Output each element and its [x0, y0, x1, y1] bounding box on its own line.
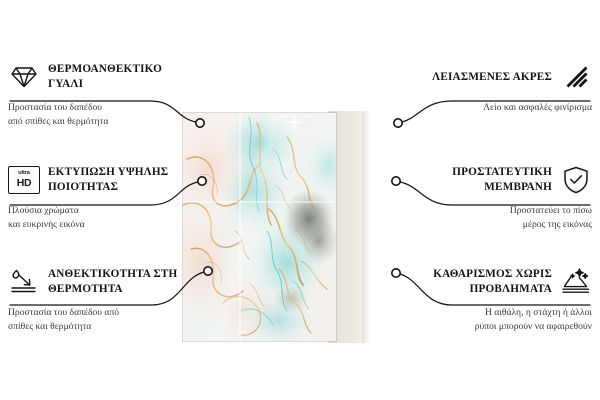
feature-header: ΚΑΘΑΡΙΣΜΟΣ ΧΩΡΙΣ ΠΡΟΒΛΗΜΑΤΑ [410, 265, 592, 299]
feature-heat-resistant-glass: ΘΕΡΜΟΑΝΘΕΚΤΙΚΟ ΓΥΑΛΙ Προστασία του δαπέδ… [8, 60, 190, 128]
feature-header: ultra HD ΕΚΤΥΠΩΣΗ ΥΨΗΛΗΣ ΠΟΙΟΤΗΤΑΣ [8, 163, 190, 197]
flame-deflect-icon [8, 267, 40, 297]
ultra-hd-icon: ultra HD [8, 165, 40, 195]
feature-header: ΠΡΟΣΤΑΤΕΥΤΙΚΗ ΜΕΜΒΡΑΝΗ [410, 163, 592, 197]
feature-title: ΕΚΤΥΠΩΣΗ ΥΨΗΛΗΣ ΠΟΙΟΤΗΤΑΣ [48, 165, 190, 195]
feature-description: Προστασία του δαπέδου από σπίθες και θερ… [8, 101, 190, 128]
ultra-hd-badge-big-label: HD [17, 178, 32, 189]
feature-description: Πλούσια χρώματα και ευκρινής εικόνα [8, 204, 190, 231]
diamond-icon [8, 62, 40, 92]
feature-title: ΚΑΘΑΡΙΣΜΟΣ ΧΩΡΙΣ ΠΡΟΒΛΗΜΑΤΑ [410, 267, 552, 297]
feature-trouble-free-cleaning: ΚΑΘΑΡΙΣΜΟΣ ΧΩΡΙΣ ΠΡΟΒΛΗΜΑΤΑ Η αιθάλη, η … [410, 265, 592, 333]
feature-polished-edges: ΛΕΙΑΣΜΕΝΕΣ ΑΚΡΕΣ Λείο και ασφαλές φινίρι… [410, 60, 592, 115]
feature-description: Προστασία του δαπέδου από σπίθες και θερ… [8, 306, 190, 333]
feature-description: Προστατεύει το πίσω μέρος της εικόνας [410, 204, 592, 231]
beveled-edge-icon [560, 62, 592, 92]
ultra-hd-badge: ultra HD [8, 166, 40, 194]
product-feature-infographic: ΘΕΡΜΟΑΝΘΕΚΤΙΚΟ ΓΥΑΛΙ Προστασία του δαπέδ… [0, 0, 600, 400]
feature-description: Η αιθάλη, η στάχτη ή άλλοι ρύποι μπορούν… [410, 306, 592, 333]
feature-title: ΠΡΟΣΤΑΤΕΥΤΙΚΗ ΜΕΜΒΡΑΝΗ [410, 165, 552, 195]
feature-header: ΑΝΘΕΚΤΙΚΟΤΗΤΑ ΣΤΗ ΘΕΡΜΟΤΗΤΑ [8, 265, 190, 299]
feature-heat-durability: ΑΝΘΕΚΤΙΚΟΤΗΤΑ ΣΤΗ ΘΕΡΜΟΤΗΤΑ Προστασία το… [8, 265, 190, 333]
feature-description: Λείο και ασφαλές φινίρισμα [410, 101, 592, 115]
feature-title: ΘΕΡΜΟΑΝΘΕΚΤΙΚΟ ΓΥΑΛΙ [48, 62, 190, 92]
feature-high-quality-print: ultra HD ΕΚΤΥΠΩΣΗ ΥΨΗΛΗΣ ΠΟΙΟΤΗΤΑΣ Πλούσ… [8, 163, 190, 231]
feature-title: ΛΕΙΑΣΜΕΝΕΣ ΑΚΡΕΣ [410, 70, 552, 85]
feature-header: ΘΕΡΜΟΑΝΘΕΚΤΙΚΟ ΓΥΑΛΙ [8, 60, 190, 94]
sparkle-clean-icon [560, 267, 592, 297]
marble-artwork [183, 113, 336, 341]
feature-header: ΛΕΙΑΣΜΕΝΕΣ ΑΚΡΕΣ [410, 60, 592, 94]
product-image [183, 113, 413, 341]
feature-protective-membrane: ΠΡΟΣΤΑΤΕΥΤΙΚΗ ΜΕΜΒΡΑΝΗ Προστατεύει το πί… [410, 163, 592, 231]
shield-check-icon [560, 165, 592, 195]
feature-title: ΑΝΘΕΚΤΙΚΟΤΗΤΑ ΣΤΗ ΘΕΡΜΟΤΗΤΑ [48, 267, 190, 297]
glass-panel-front-face [183, 113, 336, 341]
